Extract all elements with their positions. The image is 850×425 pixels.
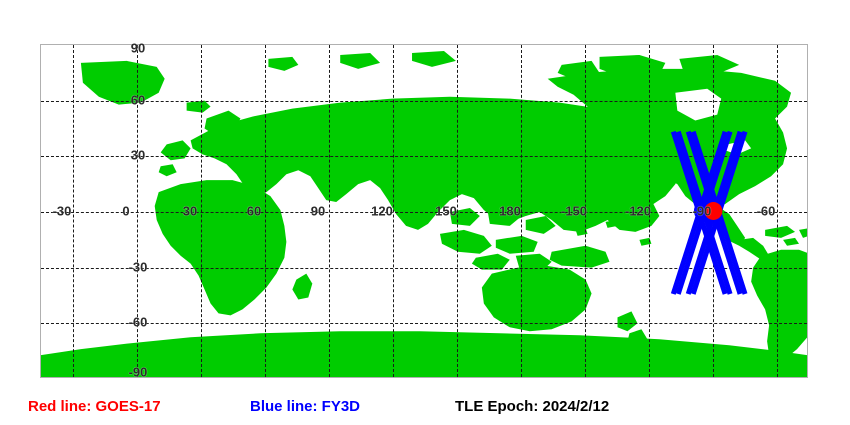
- lon-tick-150: 150: [435, 205, 457, 218]
- lat-tick--90: -90: [129, 366, 148, 379]
- legend-red-line-label: Red line: GOES-17: [28, 392, 161, 422]
- lon-tick--90: -90: [693, 205, 712, 218]
- lat-tick-60: 60: [131, 93, 145, 106]
- lon-tick--120: -120: [625, 205, 651, 218]
- lat-tick--30: -30: [129, 260, 148, 273]
- lon-tick-180: 180: [499, 205, 521, 218]
- lon-tick--150: -150: [561, 205, 587, 218]
- lon-tick-0: 0: [122, 205, 129, 218]
- legend-blue-line-label: Blue line: FY3D: [250, 392, 360, 422]
- lon-tick--60: -60: [757, 205, 776, 218]
- tle-epoch-label: TLE Epoch: 2024/2/12: [455, 392, 609, 422]
- lon-tick-90: 90: [311, 205, 325, 218]
- legend-caption-row: Red line: GOES-17 Blue line: FY3D TLE Ep…: [0, 392, 850, 422]
- lat-tick--60: -60: [129, 316, 148, 329]
- lat-tick-90: 90: [131, 42, 145, 55]
- satellite-ground-track-map: -300306090120150180-150-120-90-60906030-…: [0, 0, 850, 425]
- lon-tick-30: 30: [183, 205, 197, 218]
- lon-tick--30: -30: [53, 205, 72, 218]
- lon-tick-60: 60: [247, 205, 261, 218]
- lon-tick-120: 120: [371, 205, 393, 218]
- lat-tick-30: 30: [131, 149, 145, 162]
